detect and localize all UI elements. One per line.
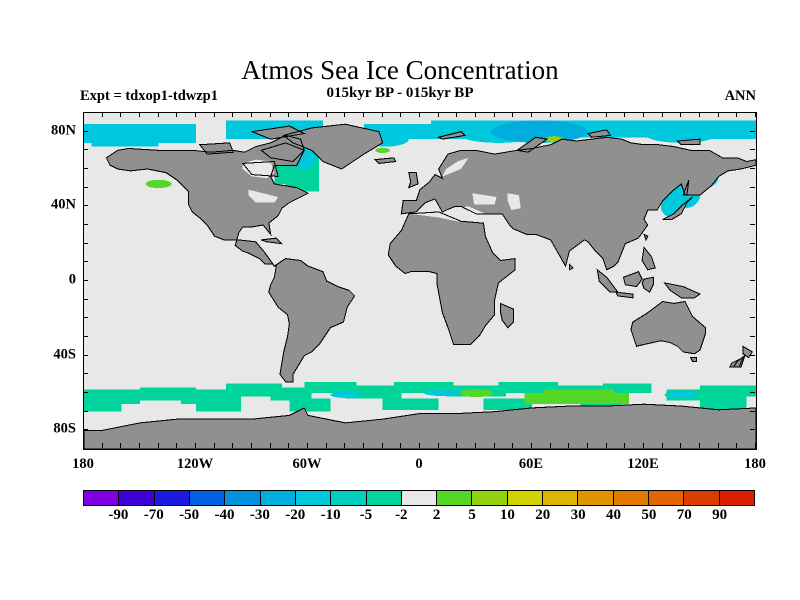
x-axis-tick	[344, 112, 345, 117]
colorbar-tick-label: -10	[321, 507, 341, 524]
x-axis-tick	[755, 112, 756, 117]
x-axis-tick	[382, 443, 383, 448]
x-axis-tick	[512, 112, 513, 117]
x-axis-tick	[456, 112, 457, 117]
y-axis-tick	[83, 429, 88, 430]
x-axis-tick	[587, 443, 588, 448]
colorbar-tick-label: 90	[712, 507, 727, 524]
x-axis-tick	[662, 443, 663, 448]
colorbar-segment	[614, 491, 649, 505]
x-axis-tick	[288, 443, 289, 448]
x-axis-tick	[363, 112, 364, 117]
y-axis-label: 40N	[28, 197, 76, 214]
y-axis-tick	[750, 392, 755, 393]
y-axis-label: 80N	[28, 122, 76, 139]
colorbar-tick-label: -40	[214, 507, 234, 524]
x-axis-tick	[736, 112, 737, 117]
y-axis-tick	[750, 131, 755, 132]
x-axis-tick	[176, 443, 177, 448]
x-axis-tick	[494, 112, 495, 117]
x-axis-tick	[718, 443, 719, 448]
x-axis-tick	[419, 443, 420, 448]
colorbar-segment	[331, 491, 366, 505]
x-axis-tick	[158, 112, 159, 117]
x-axis-tick	[438, 443, 439, 448]
x-axis-tick	[158, 443, 159, 448]
x-axis-tick	[120, 443, 121, 448]
x-axis-tick	[512, 443, 513, 448]
colorbar-segment	[155, 491, 190, 505]
x-axis-tick	[83, 112, 84, 117]
x-axis-tick	[624, 443, 625, 448]
x-axis-tick	[195, 443, 196, 448]
y-axis-tick	[83, 317, 88, 318]
colorbar-segment	[84, 491, 119, 505]
x-axis-tick	[251, 112, 252, 117]
x-axis-tick	[176, 112, 177, 117]
colorbar-segment	[402, 491, 437, 505]
colorbar-tick-label: -70	[144, 507, 164, 524]
x-axis-tick	[606, 112, 607, 117]
x-axis-tick	[270, 443, 271, 448]
x-axis-tick	[475, 112, 476, 117]
colorbar-segment	[225, 491, 260, 505]
x-axis-tick	[400, 112, 401, 117]
x-axis-tick	[139, 443, 140, 448]
y-axis-tick	[750, 261, 755, 262]
y-axis-tick	[750, 187, 755, 188]
x-axis-tick	[643, 443, 644, 448]
x-axis-tick	[550, 443, 551, 448]
colorbar-segment	[684, 491, 719, 505]
x-axis-tick	[736, 443, 737, 448]
y-axis-tick	[83, 224, 88, 225]
x-axis-tick	[550, 112, 551, 117]
colorbar-segments	[83, 490, 755, 506]
y-axis-tick	[83, 168, 88, 169]
colorbar-tick-labels: -90-70-50-40-30-20-10-5-2251020304050709…	[83, 507, 755, 529]
x-axis-tick	[270, 112, 271, 117]
colorbar-tick-label: 40	[606, 507, 621, 524]
colorbar-segment	[190, 491, 225, 505]
y-axis-tick	[83, 149, 88, 150]
x-axis-tick	[139, 112, 140, 117]
colorbar-segment	[543, 491, 578, 505]
y-axis-tick	[83, 355, 88, 356]
x-axis-tick	[400, 443, 401, 448]
y-axis-tick	[750, 243, 755, 244]
colorbar-segment	[720, 491, 754, 505]
y-axis-tick	[750, 355, 755, 356]
x-axis-tick	[699, 443, 700, 448]
colorbar-tick-label: -20	[285, 507, 305, 524]
y-axis-tick	[83, 261, 88, 262]
colorbar	[83, 490, 755, 506]
colorbar-segment	[437, 491, 472, 505]
x-axis-tick	[531, 112, 532, 117]
x-axis-tick	[120, 112, 121, 117]
x-axis-label: 60E	[519, 456, 543, 473]
x-axis-tick	[531, 443, 532, 448]
season-label: ANN	[725, 88, 756, 105]
page-title: Atmos Sea Ice Concentration	[0, 55, 800, 86]
colorbar-segment	[119, 491, 154, 505]
x-axis-tick	[606, 443, 607, 448]
x-axis-tick	[755, 443, 756, 448]
colorbar-segment	[261, 491, 296, 505]
colorbar-tick-label: 30	[571, 507, 586, 524]
colorbar-tick-label: 50	[641, 507, 656, 524]
x-axis-tick	[288, 112, 289, 117]
colorbar-tick-label: -90	[108, 507, 128, 524]
y-axis-label: 0	[28, 272, 76, 289]
colorbar-tick-label: -50	[179, 507, 199, 524]
colorbar-segment	[367, 491, 402, 505]
y-axis-tick	[83, 131, 88, 132]
x-axis-tick	[326, 112, 327, 117]
y-axis-label: 80S	[28, 421, 76, 438]
colorbar-tick-label: -30	[250, 507, 270, 524]
x-axis-label: 60W	[293, 456, 322, 473]
x-axis-label: 120E	[627, 456, 658, 473]
x-axis-tick	[643, 112, 644, 117]
y-axis-tick	[750, 280, 755, 281]
colorbar-segment	[578, 491, 613, 505]
x-axis-tick	[214, 443, 215, 448]
x-axis-label: 120W	[177, 456, 213, 473]
colorbar-segment	[472, 491, 507, 505]
y-axis-tick	[750, 168, 755, 169]
x-axis-tick	[699, 112, 700, 117]
y-axis-tick	[750, 373, 755, 374]
y-axis-tick	[83, 243, 88, 244]
x-axis-tick	[680, 443, 681, 448]
x-axis-tick	[680, 112, 681, 117]
y-axis-tick	[750, 224, 755, 225]
colorbar-tick-label: -5	[360, 507, 373, 524]
map-plot-area	[83, 112, 757, 450]
colorbar-tick-label: 2	[433, 507, 441, 524]
colorbar-tick-label: 70	[677, 507, 692, 524]
x-axis-tick	[214, 112, 215, 117]
x-axis-tick	[344, 443, 345, 448]
colorbar-tick-label: -2	[395, 507, 408, 524]
colorbar-segment	[649, 491, 684, 505]
colorbar-segment	[296, 491, 331, 505]
y-axis-tick	[750, 317, 755, 318]
x-axis-tick	[307, 443, 308, 448]
colorbar-tick-label: 20	[535, 507, 550, 524]
x-axis-tick	[456, 443, 457, 448]
y-axis-tick	[83, 336, 88, 337]
y-axis-tick	[750, 411, 755, 412]
y-axis-tick	[83, 187, 88, 188]
y-axis-tick	[750, 205, 755, 206]
x-axis-tick	[438, 112, 439, 117]
x-axis-tick	[568, 443, 569, 448]
y-axis-tick	[750, 299, 755, 300]
y-axis-tick	[83, 280, 88, 281]
x-axis-tick	[232, 112, 233, 117]
x-axis-tick	[102, 443, 103, 448]
x-axis-tick	[102, 112, 103, 117]
x-axis-tick	[419, 112, 420, 117]
world-map	[84, 113, 756, 449]
y-axis-tick	[83, 373, 88, 374]
x-axis-tick	[587, 112, 588, 117]
x-axis-tick	[718, 112, 719, 117]
x-axis-tick	[83, 443, 84, 448]
x-axis-tick	[363, 443, 364, 448]
x-axis-tick	[251, 443, 252, 448]
x-axis-tick	[568, 112, 569, 117]
x-axis-tick	[475, 443, 476, 448]
figure-root: Atmos Sea Ice Concentration 015kyr BP - …	[0, 0, 800, 600]
x-axis-tick	[624, 112, 625, 117]
x-axis-tick	[494, 443, 495, 448]
x-axis-label: 180	[72, 456, 94, 473]
y-axis-tick	[83, 392, 88, 393]
x-axis-tick	[326, 443, 327, 448]
colorbar-tick-label: 5	[468, 507, 476, 524]
x-axis-tick	[307, 112, 308, 117]
colorbar-segment	[508, 491, 543, 505]
y-axis-tick	[750, 149, 755, 150]
y-axis-tick	[83, 299, 88, 300]
y-axis-label: 40S	[28, 346, 76, 363]
y-axis-tick	[750, 429, 755, 430]
x-axis-tick	[382, 112, 383, 117]
x-axis-tick	[195, 112, 196, 117]
x-axis-label: 180	[744, 456, 766, 473]
y-axis-tick	[750, 336, 755, 337]
x-axis-tick	[662, 112, 663, 117]
y-axis-tick	[83, 411, 88, 412]
y-axis-tick	[83, 205, 88, 206]
colorbar-tick-label: 10	[500, 507, 515, 524]
experiment-label: Expt = tdxop1-tdwzp1	[80, 88, 218, 105]
x-axis-tick	[232, 443, 233, 448]
x-axis-label: 0	[415, 456, 422, 473]
